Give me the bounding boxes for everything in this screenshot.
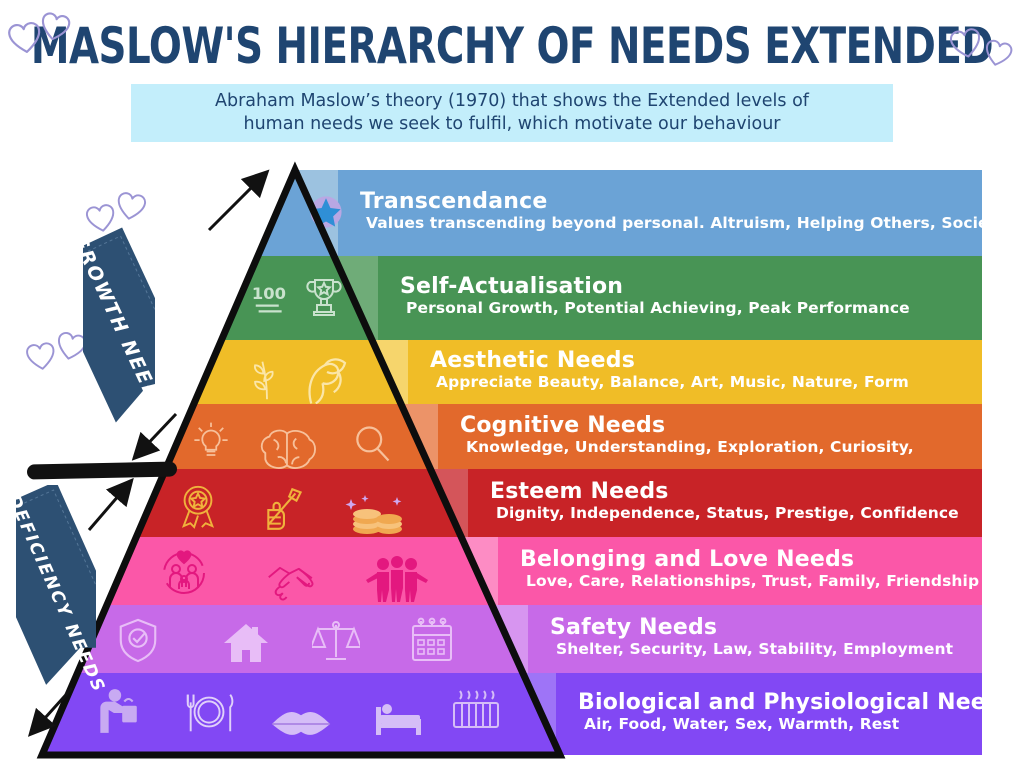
level-title: Transcendance — [360, 189, 1011, 214]
leaf-branch-icon — [245, 358, 289, 402]
coin-stack-icon — [345, 481, 409, 545]
level-description: Dignity, Independence, Status, Prestige,… — [490, 504, 959, 523]
level-text-block: Self-ActualisationPersonal Growth, Poten… — [400, 274, 910, 318]
level-title: Self-Actualisation — [400, 274, 910, 299]
level-description: Values transcending beyond personal. Alt… — [360, 214, 1011, 233]
level-description: Shelter, Security, Law, Stability, Emplo… — [550, 640, 953, 659]
level-description: Air, Food, Water, Sex, Warmth, Rest — [578, 715, 1015, 734]
level-title: Belonging and Love Needs — [520, 547, 979, 572]
radiator-icon — [448, 683, 504, 739]
drinking-person-icon — [92, 687, 142, 737]
bed-icon — [372, 689, 428, 745]
trophy-icon — [300, 272, 348, 320]
redaction-mark — [27, 461, 177, 479]
svg-text:100: 100 — [252, 284, 286, 303]
deficiency-needs-ribbon: DEFICIENCY NEEDS — [16, 485, 96, 703]
level-text-block: Aesthetic NeedsAppreciate Beauty, Balanc… — [430, 348, 909, 392]
flower-hand-icon — [300, 354, 354, 408]
fist-torch-icon — [260, 483, 310, 533]
plate-cutlery-icon — [182, 685, 236, 739]
level-text-block: Cognitive NeedsKnowledge, Understanding,… — [460, 413, 914, 457]
level-text-block: Esteem NeedsDignity, Independence, Statu… — [490, 479, 959, 523]
level-description: Appreciate Beauty, Balance, Art, Music, … — [430, 373, 909, 392]
star-badge-icon — [304, 190, 348, 234]
pyramid-level-4[interactable]: Esteem NeedsDignity, Independence, Statu… — [0, 469, 1024, 537]
pyramid-level-1[interactable]: Biological and Physiological NeedsAir, F… — [0, 673, 1024, 755]
level-title: Esteem Needs — [490, 479, 959, 504]
three-friends-icon — [365, 547, 429, 611]
magnifier-icon — [350, 422, 394, 466]
hundred-points-icon: 100 — [250, 274, 296, 320]
level-text-block: Biological and Physiological NeedsAir, F… — [578, 690, 1015, 734]
level-description: Personal Growth, Potential Achieving, Pe… — [400, 299, 910, 318]
growth-needs-ribbon: GROWTH NEEDS — [83, 196, 155, 454]
level-title: Cognitive Needs — [460, 413, 914, 438]
calendar-icon — [408, 617, 456, 665]
level-title: Aesthetic Needs — [430, 348, 909, 373]
level-text-block: TranscendanceValues transcending beyond … — [360, 189, 1011, 233]
shield-check-icon — [115, 617, 161, 663]
lips-icon — [270, 693, 332, 755]
level-description: Knowledge, Understanding, Exploration, C… — [460, 438, 914, 457]
family-heart-icon — [160, 549, 208, 597]
level-text-block: Safety NeedsShelter, Security, Law, Stab… — [550, 615, 953, 659]
level-title: Biological and Physiological Needs — [578, 690, 1015, 715]
lightbulb-icon — [190, 420, 232, 462]
scales-icon — [312, 617, 360, 665]
handshake-icon — [265, 551, 325, 611]
pyramid-level-2[interactable]: Safety NeedsShelter, Security, Law, Stab… — [0, 605, 1024, 673]
level-title: Safety Needs — [550, 615, 953, 640]
level-description: Love, Care, Relationships, Trust, Family… — [520, 572, 979, 591]
level-text-block: Belonging and Love NeedsLove, Care, Rela… — [520, 547, 979, 591]
house-icon — [222, 619, 270, 667]
award-medal-icon — [175, 483, 221, 529]
